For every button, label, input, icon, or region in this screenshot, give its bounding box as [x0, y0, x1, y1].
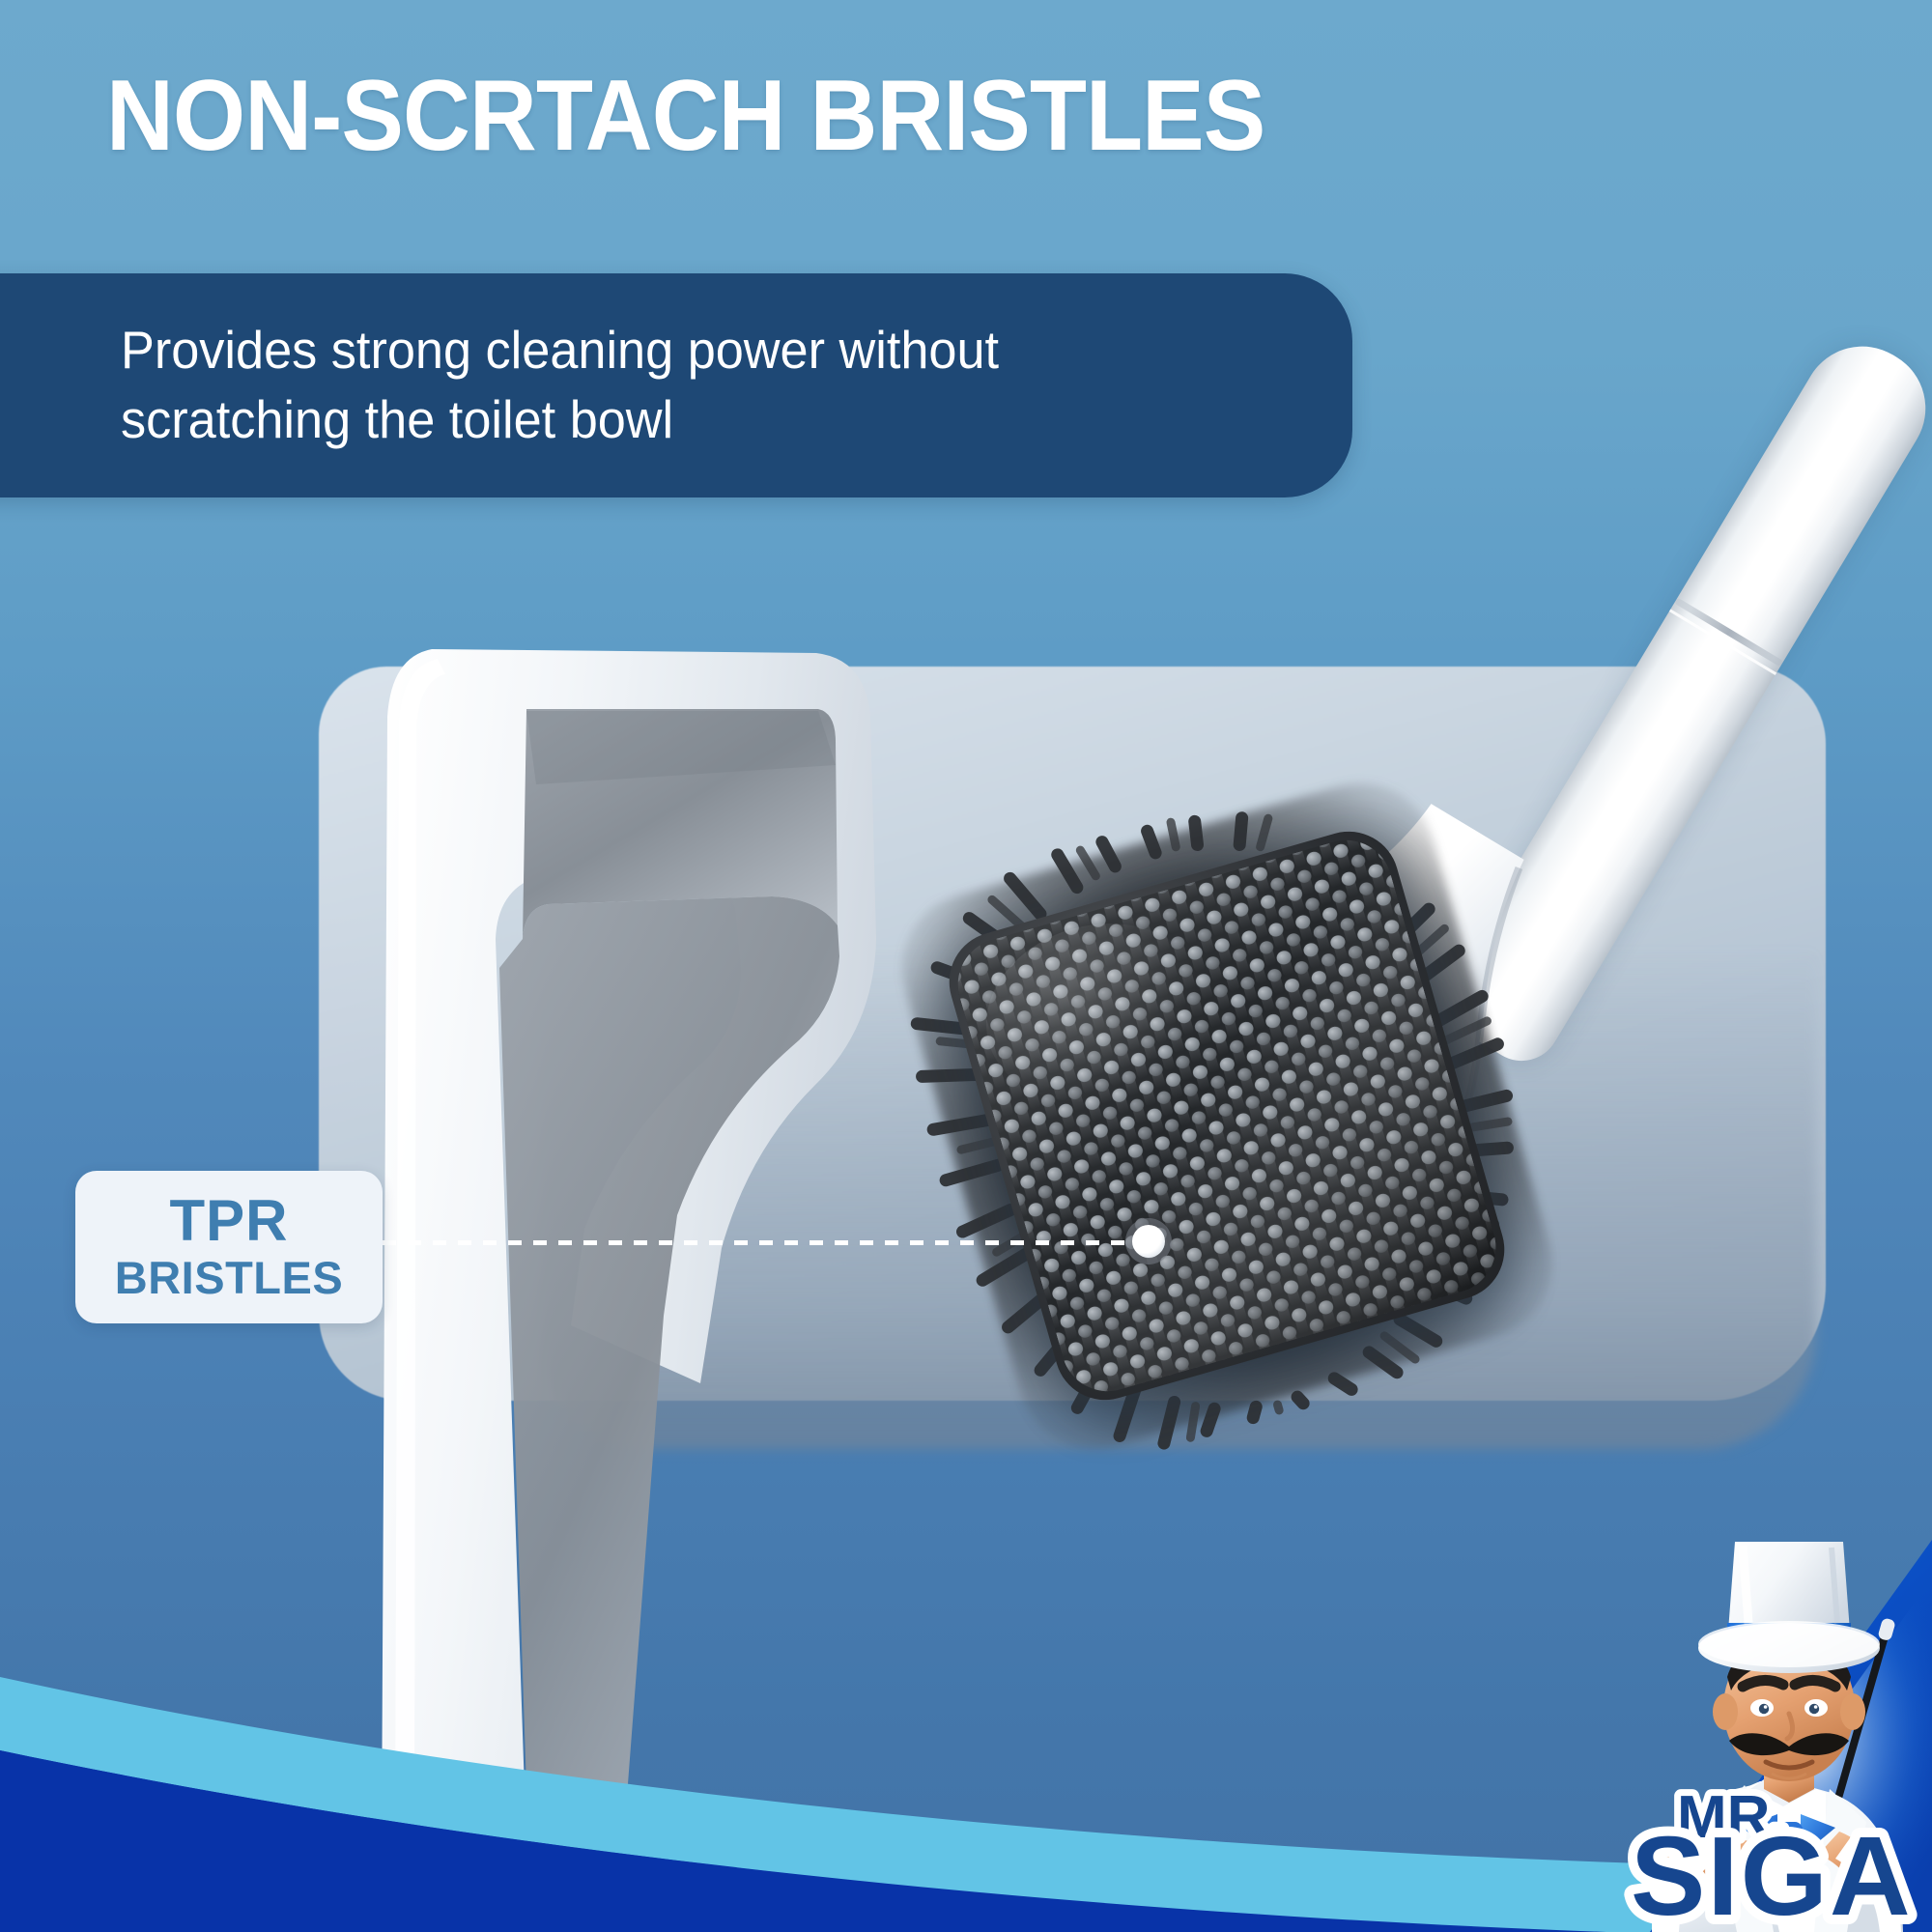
- tpr-bristles-callout: TPR BRISTLES: [75, 1171, 383, 1323]
- product-feature-image: NON-SCRTACH BRISTLES Provides strong cle…: [0, 0, 1932, 1932]
- callout-marker-dot: [1132, 1225, 1165, 1258]
- callout-line-1: TPR: [170, 1193, 289, 1250]
- tpr-bristle-head: [937, 820, 1516, 1412]
- callout-leader-line: [383, 1240, 1155, 1245]
- callout-line-2: BRISTLES: [115, 1254, 343, 1301]
- brand-name: SIGA: [1631, 1813, 1913, 1932]
- brand-logo: MR. MR. SIGA SIGA: [1507, 1478, 1932, 1932]
